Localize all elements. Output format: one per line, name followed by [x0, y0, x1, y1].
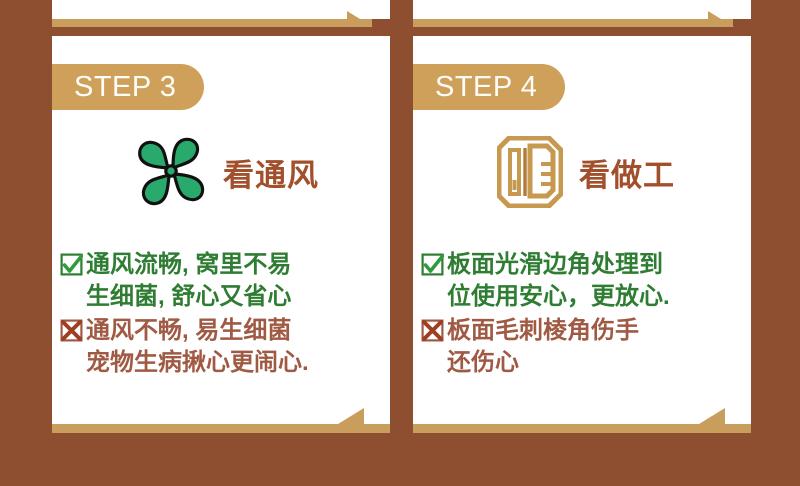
right-gold-arrow-head [708, 11, 734, 27]
checked-checkbox-icon [60, 253, 86, 281]
right-top-white-strip [413, 0, 751, 19]
left-brown-rule [52, 27, 390, 36]
right-bottom-notch [699, 408, 725, 424]
list-item: 通风不畅, 易生细菌 [60, 316, 385, 347]
badge-step3-label: STEP 3 [52, 73, 176, 102]
list-item-cont: 宠物生病揪心更闹心. [60, 348, 385, 378]
left-bottom-notch [338, 408, 364, 424]
list-item-text-line-2: 宠物生病揪心更闹心. [86, 348, 309, 378]
list-item-text-line-1: 通风流畅, 窝里不易 [86, 250, 291, 280]
checked-checkbox-icon [421, 253, 447, 281]
crossed-checkbox-icon [421, 319, 447, 347]
card-step3-points: 通风流畅, 窝里不易 生细菌, 舒心又省心 通风不畅, 易生细菌 宠物生病揪心更… [60, 250, 385, 379]
crossed-checkbox-icon [60, 319, 86, 347]
card-step4-heading: 看做工 [497, 136, 675, 208]
list-item-text-line-1: 板面光滑边角处理到 [447, 250, 663, 280]
list-item-text-line-2: 还伤心 [447, 348, 519, 378]
card-step3-heading: 看通风 [135, 134, 319, 210]
list-item-cont: 生细菌, 舒心又省心 [60, 282, 385, 312]
list-item-text-line-1: 通风不畅, 易生细菌 [86, 316, 291, 346]
list-item-cont: 还伤心 [421, 348, 751, 378]
left-bottom-gold-strip [52, 424, 390, 433]
left-gold-rule [52, 19, 372, 27]
badge-step3: STEP 3 [52, 64, 204, 110]
card-step4-points: 板面光滑边角处理到 位使用安心，更放心. 板面毛刺棱角伤手 还伤心 [421, 250, 751, 379]
list-item: 通风流畅, 窝里不易 [60, 250, 385, 281]
right-brown-rule [413, 27, 751, 36]
left-top-white-strip [52, 0, 390, 19]
card-step4-title: 看做工 [579, 150, 675, 195]
list-item-text-line-2: 生细菌, 舒心又省心 [86, 282, 291, 312]
card-step3-title: 看通风 [223, 150, 319, 195]
list-item-text-line-2: 位使用安心，更放心. [447, 282, 670, 312]
badge-step4: STEP 4 [413, 64, 565, 110]
left-gold-arrow-head [347, 11, 373, 27]
list-item: 板面毛刺棱角伤手 [421, 316, 751, 347]
badge-step4-label: STEP 4 [413, 73, 537, 102]
list-item-cont: 位使用安心，更放心. [421, 282, 751, 312]
list-item: 板面光滑边角处理到 [421, 250, 751, 281]
right-bottom-gold-strip [413, 424, 751, 433]
fan-icon [135, 134, 207, 210]
poster-stage: STEP 3 看通风 通风流畅, 窝里不易 生细菌, [0, 0, 800, 486]
right-gold-rule [413, 19, 733, 27]
workmanship-board-icon [497, 136, 563, 208]
list-item-text-line-1: 板面毛刺棱角伤手 [447, 316, 639, 346]
